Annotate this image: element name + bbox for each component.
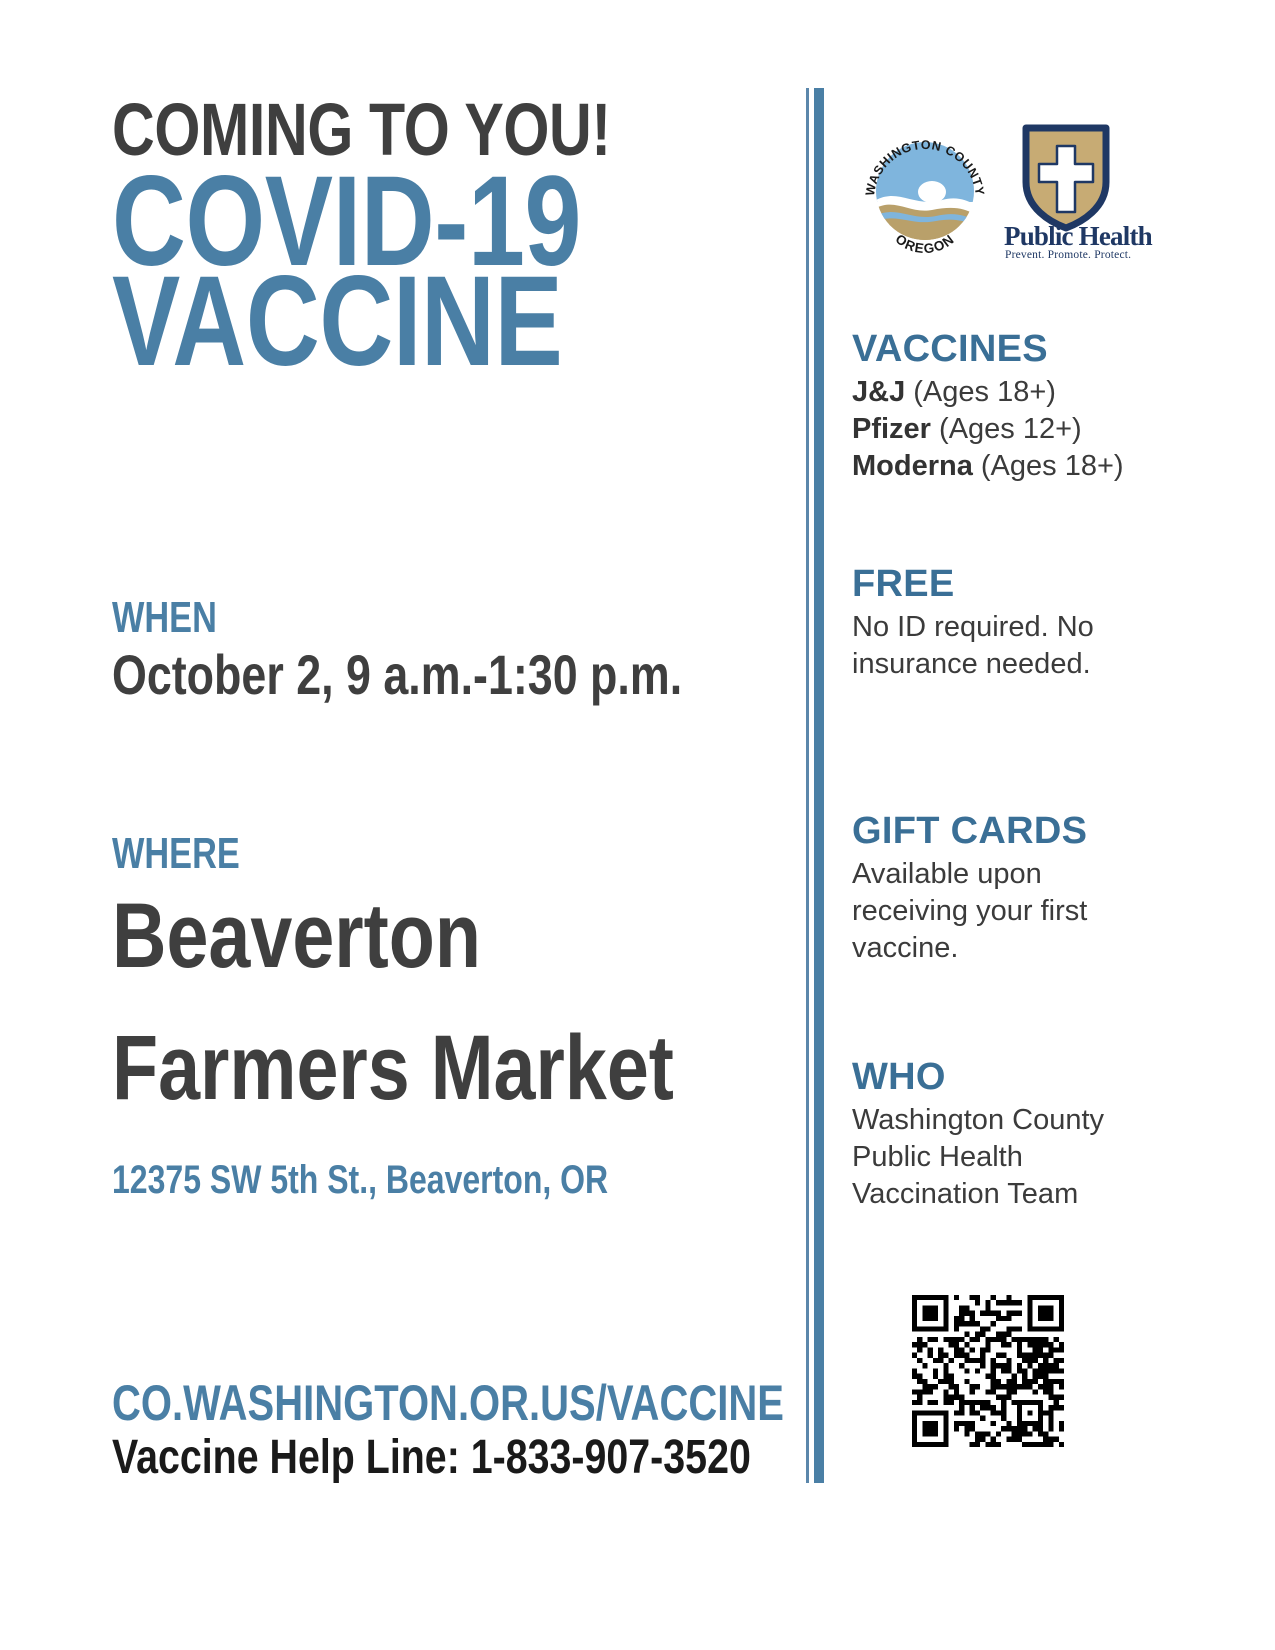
shield-icon	[1026, 128, 1106, 228]
free-body: No ID required. No insurance needed.	[852, 609, 1162, 683]
where-label: WHERE	[112, 832, 646, 876]
section-vaccines: VACCINES J&J (Ages 18+) Pfizer (Ages 12+…	[852, 330, 1162, 485]
who-body: Washington County Public Health Vaccinat…	[852, 1102, 1162, 1213]
where-block: WHERE Beaverton Farmers Market 12375 SW …	[112, 832, 797, 1200]
gift-cards-heading: GIFT CARDS	[852, 812, 1162, 852]
venue-line-2: Farmers Market	[112, 1022, 674, 1116]
public-health-tagline: Prevent. Promote. Protect.	[1005, 249, 1131, 260]
section-gift-cards: GIFT CARDS Available upon receiving your…	[852, 812, 1162, 967]
vaccine-name-pfizer: Pfizer	[852, 413, 931, 445]
public-health-title: Public Health	[1004, 221, 1153, 251]
washington-county-logo: WASHINGTON COUNTY OREGON	[852, 118, 998, 264]
gift-cards-body: Available upon receiving your first vacc…	[852, 856, 1162, 967]
when-value: October 2, 9 a.m.-1:30 p.m.	[112, 646, 682, 705]
website-url[interactable]: CO.WASHINGTON.OR.US/VACCINE	[112, 1378, 784, 1428]
section-free: FREE No ID required. No insurance needed…	[852, 565, 1162, 683]
vaccine-ages-jj: (Ages 18+)	[905, 376, 1056, 408]
when-label: WHEN	[112, 596, 668, 640]
vaccine-item: J&J (Ages 18+)	[852, 374, 1162, 411]
free-heading: FREE	[852, 565, 1162, 605]
who-heading: WHO	[852, 1058, 1162, 1098]
public-health-logo: Public Health Prevent. Promote. Protect.	[1004, 120, 1169, 260]
vaccine-ages-moderna: (Ages 18+)	[973, 450, 1124, 482]
venue-line-1: Beaverton	[112, 890, 674, 984]
venue-address: 12375 SW 5th St., Beaverton, OR	[112, 1160, 660, 1200]
section-who: WHO Washington County Public Health Vacc…	[852, 1058, 1162, 1213]
vertical-divider	[806, 88, 824, 1483]
vaccine-ages-pfizer: (Ages 12+)	[931, 413, 1082, 445]
vaccine-item: Pfizer (Ages 12+)	[852, 411, 1162, 448]
divider-thick-line	[814, 88, 824, 1483]
logo-row: WASHINGTON COUNTY OREGON Public Health P…	[852, 118, 1172, 268]
qr-code[interactable]	[912, 1295, 1064, 1447]
help-line-phone[interactable]: Vaccine Help Line: 1-833-907-3520	[112, 1434, 801, 1482]
flyer-page: COMING TO YOU! COVID-19 VACCINE WHEN Oct…	[0, 0, 1275, 1650]
vaccine-name-jj: J&J	[852, 376, 905, 408]
vaccine-item: Moderna (Ages 18+)	[852, 448, 1162, 485]
headline-block: COMING TO YOU! COVID-19 VACCINE	[112, 96, 792, 375]
when-block: WHEN October 2, 9 a.m.-1:30 p.m.	[112, 596, 825, 705]
vaccine-name-moderna: Moderna	[852, 450, 973, 482]
headline-line-3: VACCINE	[112, 268, 656, 376]
divider-thin-line	[806, 88, 809, 1483]
footer-block: CO.WASHINGTON.OR.US/VACCINE Vaccine Help…	[112, 1378, 952, 1482]
vaccines-heading: VACCINES	[852, 330, 1162, 370]
